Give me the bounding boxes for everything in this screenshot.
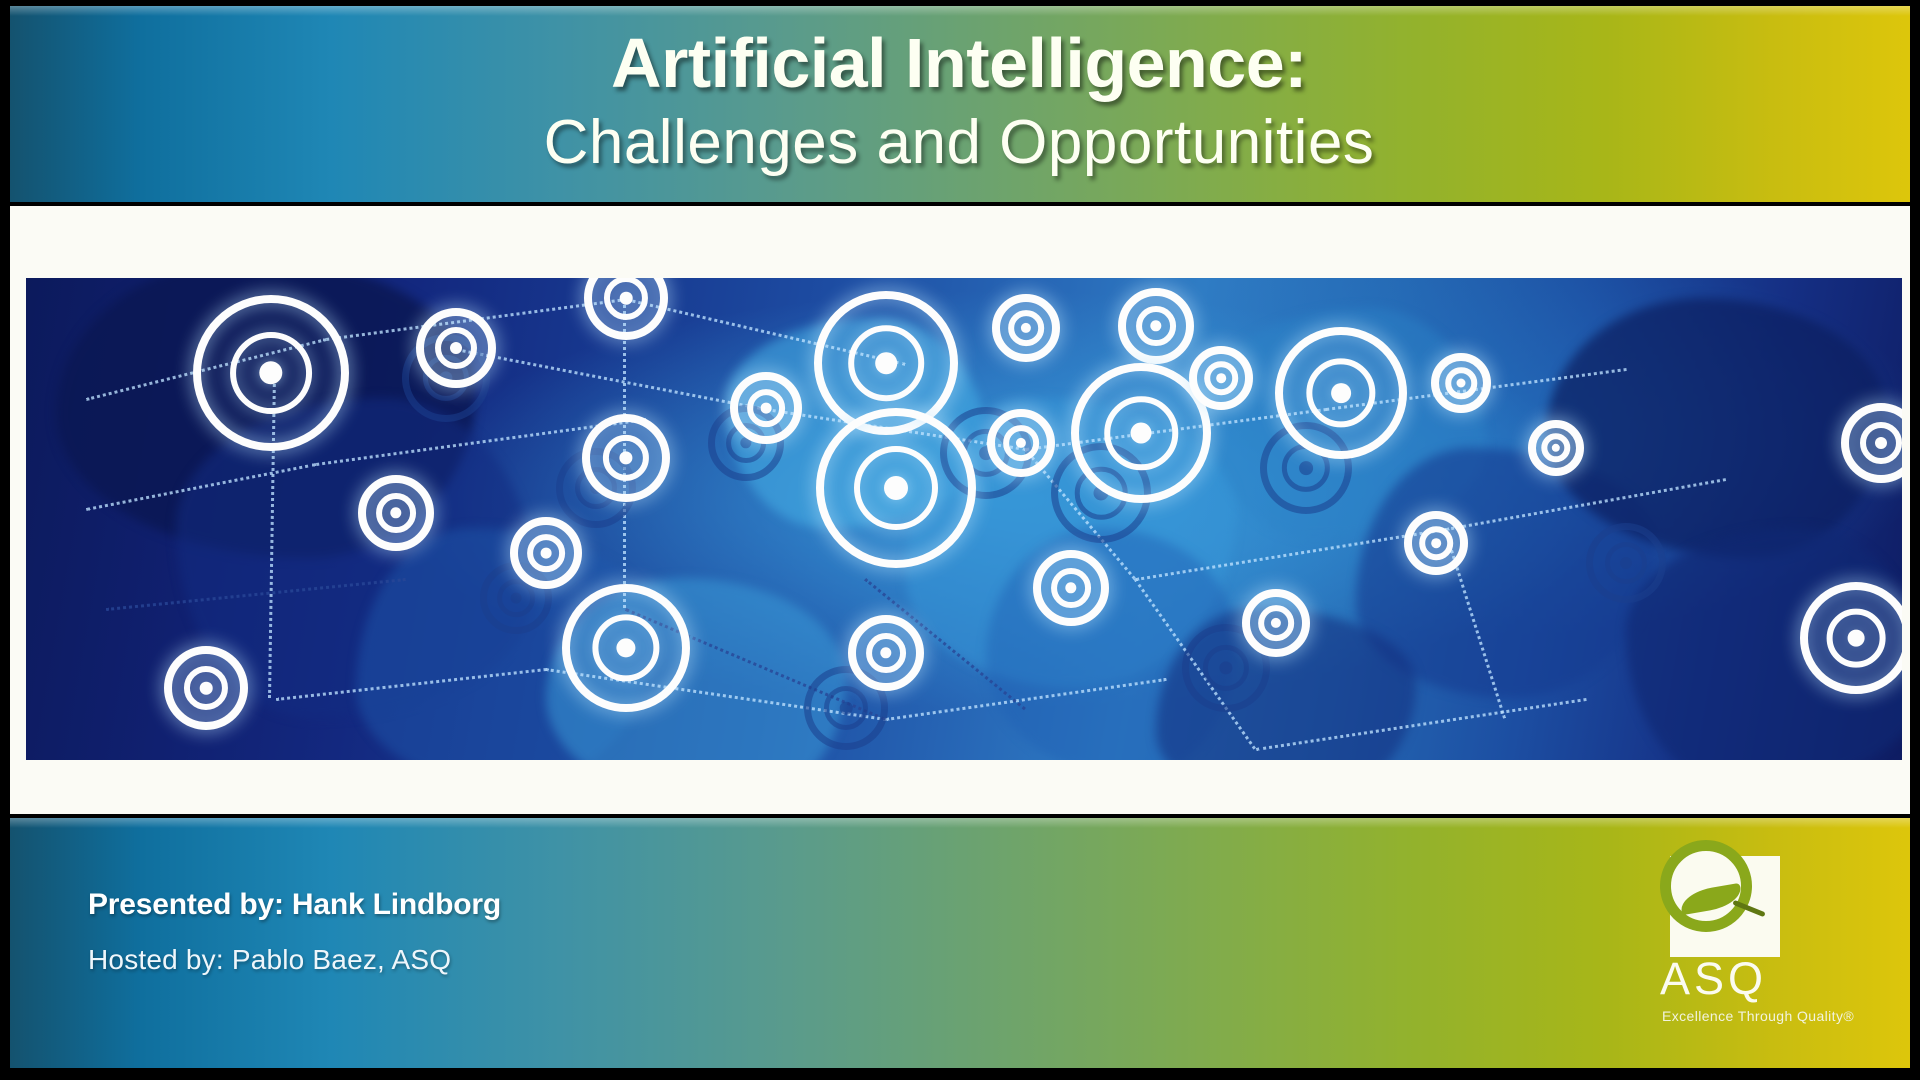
network-node-bright: [416, 308, 496, 388]
network-node-bright: [1275, 327, 1407, 459]
network-node-bright: [1033, 550, 1109, 626]
network-node-bright: [193, 295, 349, 451]
node-core: [450, 342, 462, 354]
network-world-map-image: [26, 278, 1902, 760]
network-node-bright: [992, 294, 1060, 362]
node-core: [840, 702, 853, 715]
network-node-bright: [582, 414, 670, 502]
network-node-bright: [562, 584, 690, 712]
presentation-slide: Artificial Intelligence: Challenges and …: [0, 0, 1920, 1080]
node-core: [1331, 383, 1351, 403]
top-gradient-banner: Artificial Intelligence: Challenges and …: [8, 6, 1910, 202]
network-node-bright: [1189, 346, 1253, 410]
asq-logo: ASQ Excellence Through Quality®: [1610, 826, 1840, 1041]
network-node-bright: [1118, 288, 1194, 364]
network-node-faint: [1586, 523, 1666, 603]
asq-tagline: Excellence Through Quality®: [1662, 1008, 1852, 1024]
network-node-bright: [1800, 582, 1902, 694]
node-core: [1620, 557, 1632, 569]
node-core: [541, 548, 552, 559]
node-core: [1848, 630, 1865, 647]
node-core: [1216, 373, 1226, 383]
letterbox-top: [0, 0, 1920, 6]
network-node-bright: [1431, 353, 1491, 413]
hosted-by-text: Hosted by: Pablo Baez, ASQ: [88, 944, 501, 976]
letterbox-right: [1910, 0, 1920, 1080]
node-core: [200, 682, 213, 695]
node-core: [1875, 437, 1887, 449]
node-core: [875, 352, 897, 374]
asq-wordmark: ASQ: [1660, 956, 1810, 1001]
network-node-bright: [1528, 420, 1584, 476]
network-node-bright: [164, 646, 248, 730]
network-node-bright: [730, 372, 802, 444]
node-core: [1299, 461, 1313, 475]
asq-q-mark-icon: [1660, 840, 1780, 957]
presenter-credits: Presented by: Hank Lindborg Hosted by: P…: [88, 888, 501, 976]
node-core: [1431, 538, 1441, 548]
page-subtitle: Challenges and Opportunities: [8, 112, 1910, 174]
page-title: Artificial Intelligence:: [8, 28, 1910, 98]
network-node-bright: [358, 475, 434, 551]
node-core: [511, 593, 522, 604]
node-core: [620, 292, 633, 305]
hero-image-frame: [8, 206, 1910, 814]
banner-sheen: [8, 6, 1910, 16]
letterbox-left: [0, 0, 10, 1080]
network-node-bright: [1242, 589, 1310, 657]
network-node-bright: [1404, 511, 1468, 575]
network-link: [455, 348, 766, 411]
network-node-bright: [816, 408, 976, 568]
title-block: Artificial Intelligence: Challenges and …: [8, 28, 1910, 174]
network-node-bright: [987, 409, 1055, 477]
network-node-bright: [848, 615, 924, 691]
node-core: [1131, 423, 1152, 444]
presented-by-text: Presented by: Hank Lindborg: [88, 888, 501, 922]
network-node-bright: [584, 278, 668, 340]
node-core: [1457, 379, 1466, 388]
node-core: [884, 476, 908, 500]
node-core: [761, 403, 772, 414]
network-node-bright: [510, 517, 582, 589]
letterbox-bottom: [0, 1068, 1920, 1080]
